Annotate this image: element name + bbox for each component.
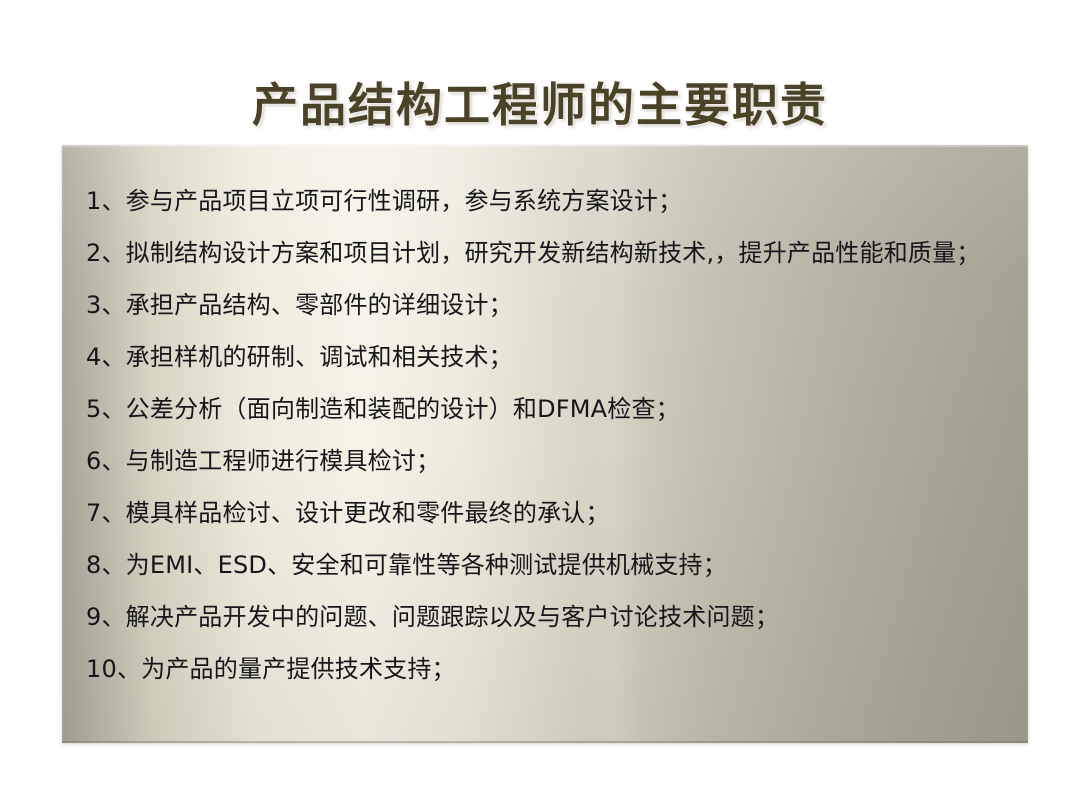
list-item-number: 2、 [86, 239, 126, 267]
list-item-text: 与制造工程师进行模具检讨； [126, 447, 441, 475]
list-item-text: 模具样品检讨、设计更改和零件最终的承认； [126, 499, 610, 527]
panel-bottom-shadow [62, 741, 1028, 743]
list-item: 3、承担产品结构、零部件的详细设计； [80, 279, 1010, 331]
list-item: 8、为EMI、ESD、安全和可靠性等各种测试提供机械支持； [80, 539, 1010, 591]
list-item-text: 参与产品项目立项可行性调研，参与系统方案设计； [126, 187, 683, 215]
duties-panel: 1、参与产品项目立项可行性调研，参与系统方案设计； 2、拟制结构设计方案和项目计… [62, 145, 1028, 743]
list-item-number: 4、 [86, 343, 126, 371]
list-item-number: 6、 [86, 447, 126, 475]
list-item-text: 承担样机的研制、调试和相关技术； [126, 343, 513, 371]
list-item-text: 拟制结构设计方案和项目计划，研究开发新结构新技术,，提升产品性能和质量； [126, 239, 981, 267]
list-item-text: 承担产品结构、零部件的详细设计； [126, 291, 513, 319]
panel-top-highlight [62, 145, 1028, 147]
list-item-number: 5、 [86, 395, 126, 423]
list-item: 4、承担样机的研制、调试和相关技术； [80, 331, 1010, 383]
list-item-number: 1、 [86, 187, 126, 215]
list-item-text: 为EMI、ESD、安全和可靠性等各种测试提供机械支持； [126, 551, 727, 579]
page-title: 产品结构工程师的主要职责 [252, 79, 828, 132]
list-item: 9、解决产品开发中的问题、问题跟踪以及与客户讨论技术问题； [80, 591, 1010, 643]
list-item: 2、拟制结构设计方案和项目计划，研究开发新结构新技术,，提升产品性能和质量； [80, 227, 1010, 279]
list-item-text: 解决产品开发中的问题、问题跟踪以及与客户讨论技术问题； [126, 603, 779, 631]
list-item-text: 公差分析（面向制造和装配的设计）和DFMA检查； [126, 395, 680, 423]
list-item-number: 10、 [86, 655, 141, 683]
list-item: 10、为产品的量产提供技术支持； [80, 643, 1010, 695]
list-item-number: 9、 [86, 603, 126, 631]
list-item-text: 为产品的量产提供技术支持； [141, 655, 456, 683]
slide-canvas: 产品结构工程师的主要职责 1、参与产品项目立项可行性调研，参与系统方案设计； 2… [0, 0, 1080, 810]
list-item-number: 8、 [86, 551, 126, 579]
list-item: 5、公差分析（面向制造和装配的设计）和DFMA检查； [80, 383, 1010, 435]
duty-list: 1、参与产品项目立项可行性调研，参与系统方案设计； 2、拟制结构设计方案和项目计… [80, 175, 1010, 695]
list-item: 6、与制造工程师进行模具检讨； [80, 435, 1010, 487]
list-item-number: 7、 [86, 499, 126, 527]
list-item: 1、参与产品项目立项可行性调研，参与系统方案设计； [80, 175, 1010, 227]
list-item: 7、模具样品检讨、设计更改和零件最终的承认； [80, 487, 1010, 539]
list-item-number: 3、 [86, 291, 126, 319]
